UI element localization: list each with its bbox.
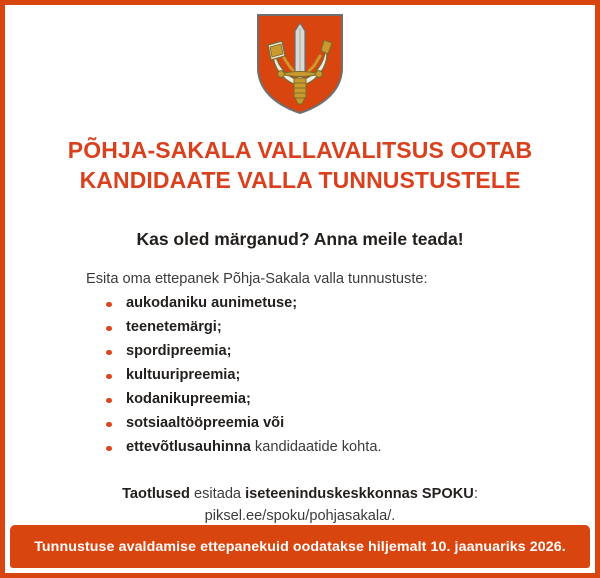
page-title: PÕHJA-SAKALA VALLAVALITSUS OOTAB KANDIDA… [40, 135, 560, 195]
bullet-icon [106, 422, 112, 428]
list-item: spordipreemia; [48, 341, 560, 363]
list-item: sotsiaaltööpreemia või [48, 413, 560, 435]
deadline-banner: Tunnustuse avaldamise ettepanekuid oodat… [10, 525, 590, 568]
coat-of-arms-icon [254, 12, 346, 116]
list-item: teenetemärgi; [48, 317, 560, 339]
coat-of-arms [254, 12, 346, 116]
bullet-icon [106, 326, 112, 332]
apply-bold-2: iseteeninduskeskkonnas SPOKU [245, 486, 474, 502]
apply-bold-1: Taotlused [122, 486, 190, 502]
page-title-line-1: PÕHJA-SAKALA VALLAVALITSUS OOTAB [40, 135, 560, 165]
list-item: ettevõtlusauhinna kandidaatide kohta. [48, 437, 560, 459]
list-item: kodanikupreemia; [48, 389, 560, 411]
list-item: aukodaniku aunimetuse; [48, 293, 560, 315]
bullet-icon [106, 446, 112, 452]
award-name: kultuuripreemia; [126, 367, 240, 383]
award-name: sotsiaaltööpreemia või [126, 415, 284, 431]
award-name: kodanikupreemia; [126, 391, 251, 407]
award-list: aukodaniku aunimetuse; teenetemärgi; spo… [48, 293, 560, 459]
bullet-icon [106, 398, 112, 404]
intro-text: Esita oma ettepanek Põhja-Sakala valla t… [48, 270, 560, 289]
apply-instructions: Taotlused esitada iseteeninduskeskkonnas… [40, 483, 560, 527]
award-name: ettevõtlusauhinna [126, 439, 251, 455]
award-suffix: kandidaatide kohta. [251, 439, 382, 455]
bullet-icon [106, 374, 112, 380]
bullet-icon [106, 302, 112, 308]
apply-middle: esitada [190, 486, 245, 502]
award-name: spordipreemia; [126, 343, 231, 359]
bullet-icon [106, 350, 112, 356]
award-name: teenetemärgi; [126, 319, 222, 335]
list-item: kultuuripreemia; [48, 365, 560, 387]
award-name: aukodaniku aunimetuse; [126, 295, 297, 311]
apply-colon: : [474, 486, 478, 502]
deadline-text: Tunnustuse avaldamise ettepanekuid oodat… [34, 539, 566, 555]
announcement-poster: PÕHJA-SAKALA VALLAVALITSUS OOTAB KANDIDA… [0, 0, 600, 578]
subtitle: Kas oled märganud? Anna meile teada! [40, 228, 560, 250]
body-content: Esita oma ettepanek Põhja-Sakala valla t… [40, 270, 560, 461]
page-title-line-2: KANDIDAATE VALLA TUNNUSTUSTELE [40, 165, 560, 195]
